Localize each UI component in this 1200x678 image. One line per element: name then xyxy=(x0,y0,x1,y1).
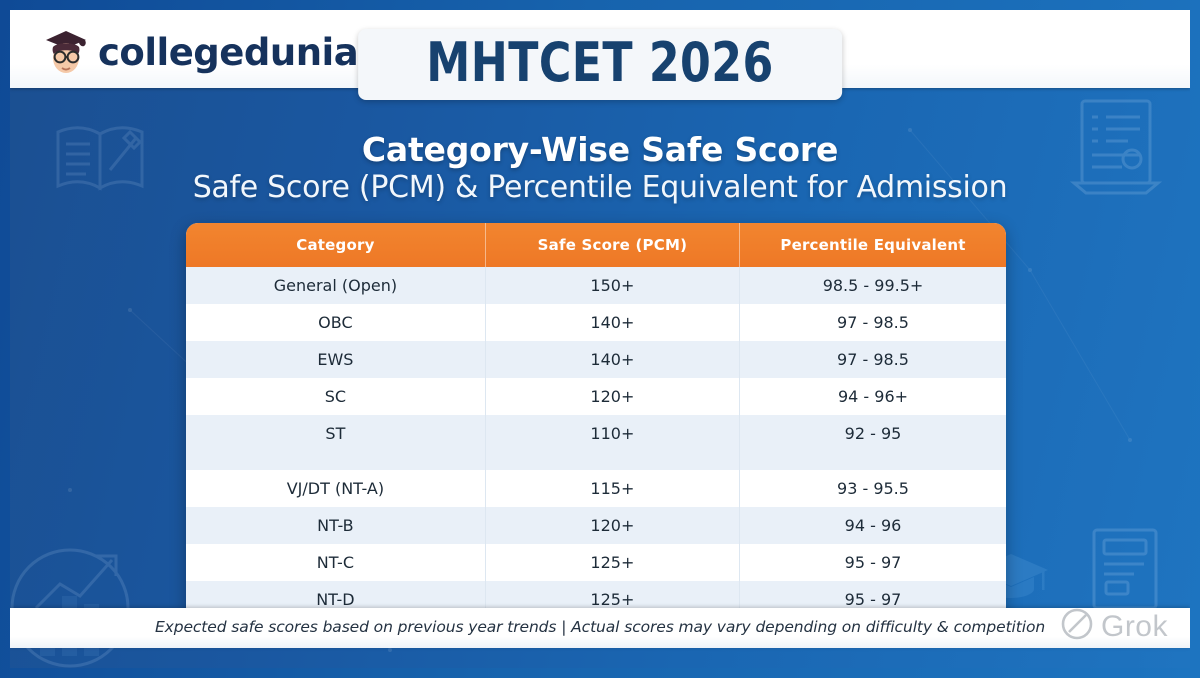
column-header-category: Category xyxy=(186,223,485,267)
cell-category: OBC xyxy=(186,304,485,341)
cell-percentile: 94 - 96 xyxy=(739,507,1006,544)
cell-category: General (Open) xyxy=(186,267,485,304)
main-heading: Category-Wise Safe Score xyxy=(10,130,1190,169)
cell-percentile: 97 - 98.5 xyxy=(739,341,1006,378)
table-row: SC 120+ 94 - 96+ xyxy=(186,378,1006,415)
table-row: VJ/DT (NT-A) 115+ 93 - 95.5 xyxy=(186,470,1006,507)
brand-logo[interactable]: collegedunia .com xyxy=(42,24,390,80)
cell-safe-score: 110+ xyxy=(485,415,739,452)
table-header: Category Safe Score (PCM) Percentile Equ… xyxy=(186,223,1006,267)
column-header-safe-score: Safe Score (PCM) xyxy=(485,223,739,267)
footer-note-band: Expected safe scores based on previous y… xyxy=(10,608,1190,648)
table-spacer-row xyxy=(186,452,1006,470)
brand-wordmark: collegedunia xyxy=(98,34,358,71)
table-row: NT-B 120+ 94 - 96 xyxy=(186,507,1006,544)
table-row: General (Open) 150+ 98.5 - 99.5+ xyxy=(186,267,1006,304)
table-row: ST 110+ 92 - 95 xyxy=(186,415,1006,452)
cell-percentile: 98.5 - 99.5+ xyxy=(739,267,1006,304)
cell-safe-score: 120+ xyxy=(485,507,739,544)
cell-safe-score: 150+ xyxy=(485,267,739,304)
table-row: NT-C 125+ 95 - 97 xyxy=(186,544,1006,581)
table-row: EWS 140+ 97 - 98.5 xyxy=(186,341,1006,378)
table-body: General (Open) 150+ 98.5 - 99.5+ OBC 140… xyxy=(186,267,1006,618)
cell-percentile: 94 - 96+ xyxy=(739,378,1006,415)
poster-frame: collegedunia .com MHTCET 2026 Category-W… xyxy=(0,0,1200,678)
table-header-row: Category Safe Score (PCM) Percentile Equ… xyxy=(186,223,1006,267)
title-plate: MHTCET 2026 xyxy=(358,29,842,100)
safe-score-table: Category Safe Score (PCM) Percentile Equ… xyxy=(186,223,1006,618)
cell-percentile: 92 - 95 xyxy=(739,415,1006,452)
cell-safe-score: 120+ xyxy=(485,378,739,415)
sub-heading: Safe Score (PCM) & Percentile Equivalent… xyxy=(10,170,1190,205)
cell-category: EWS xyxy=(186,341,485,378)
cell-percentile: 97 - 98.5 xyxy=(739,304,1006,341)
cell-category: NT-C xyxy=(186,544,485,581)
cell-category: NT-B xyxy=(186,507,485,544)
cell-safe-score xyxy=(485,452,739,470)
mascot-graduate-icon xyxy=(42,27,90,77)
page-title: MHTCET 2026 xyxy=(426,36,773,90)
cell-safe-score: 140+ xyxy=(485,304,739,341)
cell-safe-score: 140+ xyxy=(485,341,739,378)
poster-canvas: collegedunia .com MHTCET 2026 Category-W… xyxy=(10,10,1190,668)
table-row: OBC 140+ 97 - 98.5 xyxy=(186,304,1006,341)
cell-safe-score: 115+ xyxy=(485,470,739,507)
column-header-percentile: Percentile Equivalent xyxy=(739,223,1006,267)
safe-score-table-card: Category Safe Score (PCM) Percentile Equ… xyxy=(186,223,1006,618)
cell-safe-score: 125+ xyxy=(485,544,739,581)
cell-percentile: 93 - 95.5 xyxy=(739,470,1006,507)
cell-category: VJ/DT (NT-A) xyxy=(186,470,485,507)
cell-category xyxy=(186,452,485,470)
cell-category: SC xyxy=(186,378,485,415)
cell-percentile: 95 - 97 xyxy=(739,544,1006,581)
footer-note: Expected safe scores based on previous y… xyxy=(155,618,1045,636)
cell-percentile xyxy=(739,452,1006,470)
cell-category: ST xyxy=(186,415,485,452)
